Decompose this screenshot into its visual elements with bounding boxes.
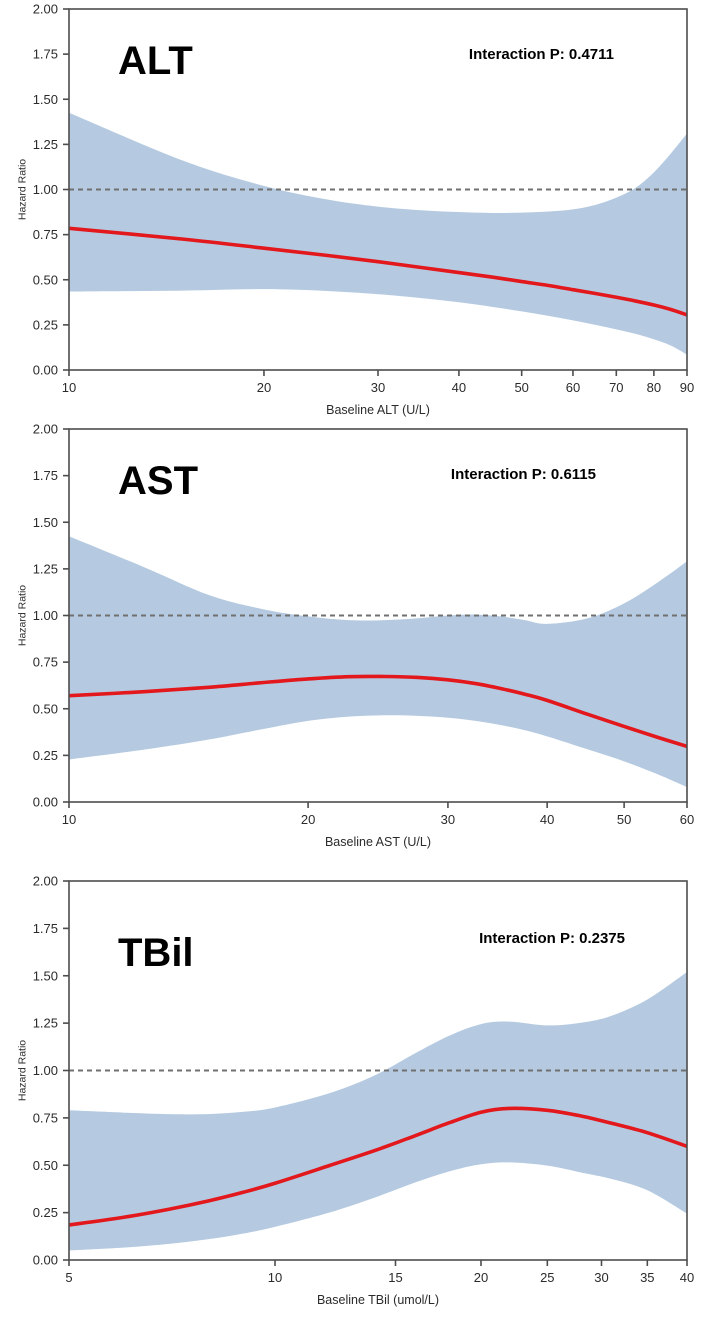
x-tick-label: 40 xyxy=(452,380,466,395)
y-tick-label: 1.00 xyxy=(33,608,58,623)
chart-panel-ast: 0.000.250.500.751.001.251.501.752.001020… xyxy=(0,420,703,872)
x-tick-label: 35 xyxy=(640,1270,654,1285)
y-tick-label: 1.25 xyxy=(33,1016,58,1031)
x-tick-label: 60 xyxy=(680,812,694,827)
y-tick-label: 0.25 xyxy=(33,1205,58,1220)
y-tick-label: 0.00 xyxy=(33,1253,58,1268)
y-tick-label: 0.00 xyxy=(33,363,58,378)
y-tick-label: 0.00 xyxy=(33,795,58,810)
panel-title: TBil xyxy=(118,931,194,975)
x-tick-label: 20 xyxy=(257,380,271,395)
x-tick-label: 15 xyxy=(388,1270,402,1285)
x-tick-label: 20 xyxy=(474,1270,488,1285)
y-axis-title: Hazard Ratio xyxy=(17,1040,29,1101)
y-tick-label: 0.50 xyxy=(33,701,58,716)
y-tick-label: 0.50 xyxy=(33,1158,58,1173)
x-tick-label: 40 xyxy=(540,812,554,827)
x-axis-title: Baseline ALT (U/L) xyxy=(326,403,430,417)
y-tick-label: 2.00 xyxy=(33,874,58,889)
y-tick-label: 2.00 xyxy=(33,2,58,17)
x-tick-label: 60 xyxy=(566,380,580,395)
y-tick-label: 0.75 xyxy=(33,1110,58,1125)
y-tick-label: 1.00 xyxy=(33,1063,58,1078)
y-tick-label: 1.25 xyxy=(33,561,58,576)
y-tick-label: 1.00 xyxy=(33,182,58,197)
x-tick-label: 70 xyxy=(609,380,623,395)
x-tick-label: 30 xyxy=(594,1270,608,1285)
y-tick-label: 0.25 xyxy=(33,748,58,763)
y-tick-label: 0.50 xyxy=(33,272,58,287)
x-axis-title: Baseline AST (U/L) xyxy=(325,835,431,849)
y-tick-label: 1.50 xyxy=(33,92,58,107)
x-tick-label: 40 xyxy=(680,1270,694,1285)
chart-panel-alt: 0.000.250.500.751.001.251.501.752.001020… xyxy=(0,0,703,420)
x-tick-label: 10 xyxy=(268,1270,282,1285)
panel-title: ALT xyxy=(118,39,193,83)
x-tick-label: 20 xyxy=(301,812,315,827)
y-tick-label: 1.25 xyxy=(33,137,58,152)
y-tick-label: 0.75 xyxy=(33,227,58,242)
interaction-p-label: Interaction P: 0.6115 xyxy=(451,466,596,483)
x-tick-label: 50 xyxy=(617,812,631,827)
y-tick-label: 1.75 xyxy=(33,468,58,483)
x-tick-label: 10 xyxy=(62,380,76,395)
y-tick-label: 2.00 xyxy=(33,422,58,437)
y-axis-title: Hazard Ratio xyxy=(17,585,29,646)
y-tick-label: 0.75 xyxy=(33,655,58,670)
x-axis-title: Baseline TBil (umol/L) xyxy=(317,1293,439,1307)
y-tick-label: 1.50 xyxy=(33,515,58,530)
x-tick-label: 80 xyxy=(647,380,661,395)
y-tick-label: 0.25 xyxy=(33,317,58,332)
interaction-p-label: Interaction P: 0.2375 xyxy=(479,930,625,947)
x-tick-label: 25 xyxy=(540,1270,554,1285)
interaction-p-label: Interaction P: 0.4711 xyxy=(469,46,614,63)
hazard-ratio-figure: 0.000.250.500.751.001.251.501.752.001020… xyxy=(0,0,703,1332)
x-tick-label: 50 xyxy=(514,380,528,395)
chart-panel-tbil: 0.000.250.500.751.001.251.501.752.005101… xyxy=(0,872,703,1332)
y-axis-title: Hazard Ratio xyxy=(17,159,29,220)
panel-title: AST xyxy=(118,459,198,503)
x-tick-label: 30 xyxy=(371,380,385,395)
x-tick-label: 10 xyxy=(62,812,76,827)
x-tick-label: 90 xyxy=(680,380,694,395)
x-tick-label: 30 xyxy=(441,812,455,827)
y-tick-label: 1.50 xyxy=(33,968,58,983)
y-tick-label: 1.75 xyxy=(33,47,58,62)
y-tick-label: 1.75 xyxy=(33,921,58,936)
x-tick-label: 5 xyxy=(65,1270,72,1285)
